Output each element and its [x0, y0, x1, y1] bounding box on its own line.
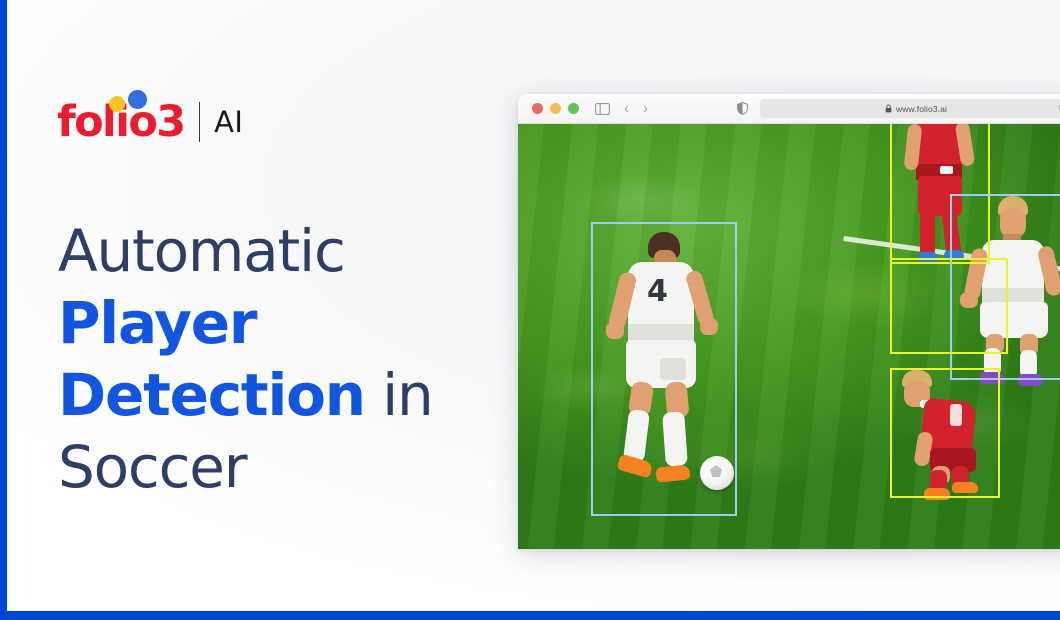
- page-title-line: Automatic: [58, 215, 458, 287]
- sidebar-toggle-icon[interactable]: [595, 103, 610, 115]
- page-content-photo: 4: [518, 124, 1060, 549]
- page-title-line: Detection in: [58, 359, 458, 431]
- lock-icon: [885, 104, 892, 113]
- close-button-icon[interactable]: [532, 103, 543, 114]
- page-title-segment: in: [365, 361, 433, 429]
- brand-suffix: AI: [214, 105, 243, 139]
- player-figure-red-front: [896, 370, 1002, 502]
- browser-window: ‹ › www.folio3.ai ↻: [518, 94, 1060, 549]
- page-title-line: Soccer: [58, 431, 458, 503]
- browser-titlebar: ‹ › www.folio3.ai ↻: [518, 94, 1060, 124]
- address-bar[interactable]: www.folio3.ai ↻: [760, 99, 1060, 118]
- logo-dot-yellow-icon: [109, 96, 125, 112]
- soccer-ball: [700, 456, 734, 490]
- page-title-segment: Player: [58, 289, 256, 357]
- zoom-button-icon[interactable]: [568, 103, 579, 114]
- page-title-segment: Automatic: [58, 217, 345, 285]
- page-title-line: Player: [58, 287, 458, 359]
- player-figure-white-mid: [956, 196, 1060, 386]
- poster-canvas: folio3 AI AutomaticPlayerDetection inSoc…: [0, 0, 1060, 620]
- address-bar-url: www.folio3.ai: [896, 104, 947, 114]
- left-content-panel: folio3 AI AutomaticPlayerDetection inSoc…: [0, 0, 500, 620]
- jersey-number: 4: [647, 274, 668, 309]
- folio3-logo: folio3: [57, 99, 185, 145]
- forward-button[interactable]: ›: [643, 101, 648, 116]
- page-title: AutomaticPlayerDetection inSoccer: [58, 215, 458, 503]
- window-controls[interactable]: [532, 103, 579, 114]
- brand-lockup: folio3 AI: [57, 96, 244, 148]
- page-title-segment: Detection: [58, 361, 365, 429]
- back-button[interactable]: ‹: [624, 101, 629, 116]
- minimize-button-icon[interactable]: [550, 103, 561, 114]
- privacy-shield-icon[interactable]: [737, 102, 748, 115]
- brand-divider: [199, 102, 201, 142]
- page-title-segment: Soccer: [58, 433, 246, 501]
- logo-dot-blue-icon: [128, 90, 147, 109]
